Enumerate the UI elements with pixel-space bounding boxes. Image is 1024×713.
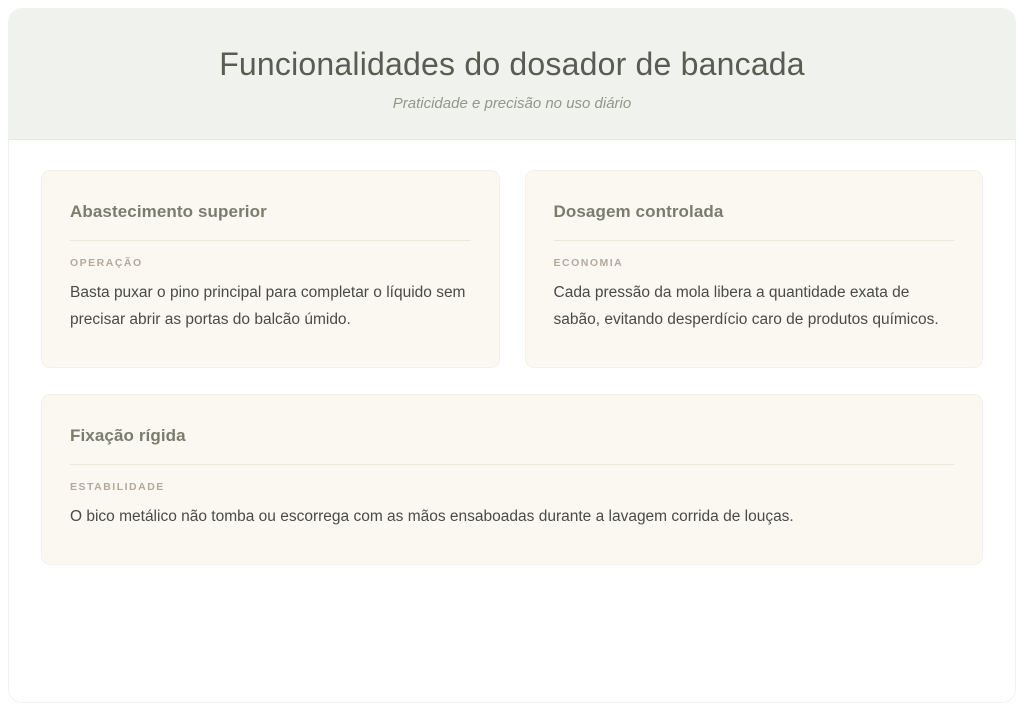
card-eyebrow-label: ESTABILIDADE	[70, 481, 954, 494]
card-title: Fixação rígida	[70, 425, 954, 446]
card-body-text: Cada pressão da mola libera a quantidade…	[554, 279, 955, 333]
feature-card-dosagem-controlada: Dosagem controlada ECONOMIA Cada pressão…	[525, 170, 984, 368]
card-eyebrow-label: OPERAÇÃO	[70, 257, 471, 270]
panel-header: Funcionalidades do dosador de bancada Pr…	[9, 9, 1015, 140]
page-root: Funcionalidades do dosador de bancada Pr…	[0, 0, 1024, 713]
card-body-text: Basta puxar o pino principal para comple…	[70, 279, 471, 333]
card-body-text: O bico metálico não tomba ou escorrega c…	[70, 503, 954, 530]
feature-card-fixacao-rigida: Fixação rígida ESTABILIDADE O bico metál…	[41, 394, 983, 565]
card-divider	[70, 464, 954, 465]
card-divider	[70, 240, 471, 241]
feature-card-abastecimento-superior: Abastecimento superior OPERAÇÃO Basta pu…	[41, 170, 500, 368]
page-subtitle: Praticidade e precisão no uso diário	[29, 95, 995, 113]
card-divider	[554, 240, 955, 241]
feature-card-row: Abastecimento superior OPERAÇÃO Basta pu…	[41, 170, 983, 368]
card-eyebrow-label: ECONOMIA	[554, 257, 955, 270]
feature-panel: Funcionalidades do dosador de bancada Pr…	[8, 8, 1016, 703]
card-title: Dosagem controlada	[554, 201, 955, 222]
panel-body: Abastecimento superior OPERAÇÃO Basta pu…	[9, 140, 1015, 702]
card-title: Abastecimento superior	[70, 201, 471, 222]
page-title: Funcionalidades do dosador de bancada	[29, 45, 995, 83]
